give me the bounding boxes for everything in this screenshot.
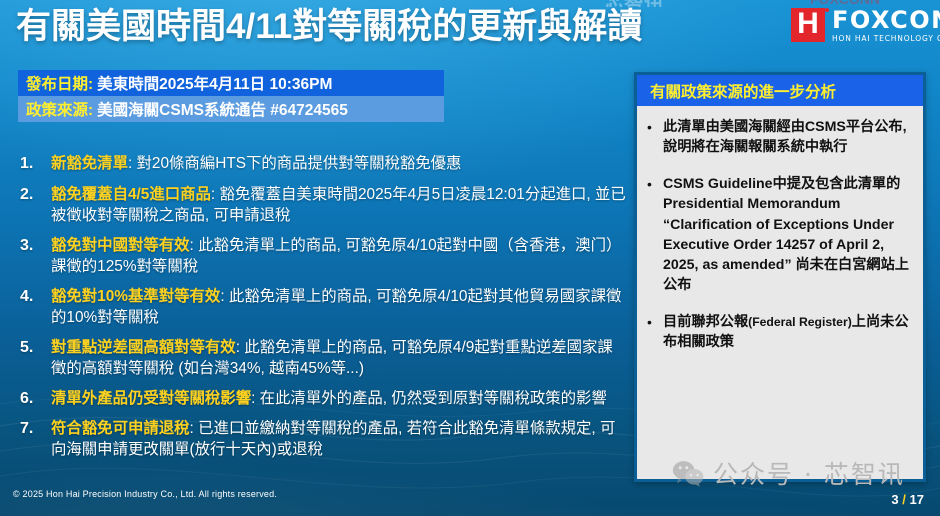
panel-bullet: • 此清單由美國海關經由CSMS平台公布, 說明將在海關報關系統中執行	[647, 117, 911, 157]
list-item-number: 1.	[20, 153, 51, 175]
panel-bullet-text: 此清單由美國海關經由CSMS平台公布, 說明將在海關報關系統中執行	[663, 117, 911, 157]
bullet-marker-icon: •	[647, 117, 663, 157]
foxconn-tagline: HON HAI TECHNOLOGY GROUP	[832, 35, 940, 43]
panel-bullet: • CSMS Guideline中提及包含此清單的 Presidential M…	[647, 174, 911, 295]
foxconn-h-mark-icon: H	[791, 8, 825, 42]
panel-bullet-text: CSMS Guideline中提及包含此清單的 Presidential Mem…	[663, 174, 911, 295]
list-item-number: 4.	[20, 286, 51, 329]
list-item: 2. 豁免覆蓋自4/5進口商品: 豁免覆蓋自美東時間2025年4月5日凌晨12:…	[20, 184, 628, 227]
policy-source-value: 美國海關CSMS系統通告 #64724565	[97, 98, 348, 120]
list-item-number: 6.	[20, 388, 51, 410]
list-item-number: 2.	[20, 184, 51, 227]
list-item: 1. 新豁免清單: 對20條商編HTS下的商品提供對等關稅豁免優惠	[20, 153, 628, 175]
foxconn-logo: H FOXCONN® HON HAI TECHNOLOGY GROUP	[791, 8, 940, 43]
list-item: 7. 符合豁免可申請退稅: 已進口並繳納對等關稅的產品, 若符合此豁免清單條款規…	[20, 418, 628, 461]
list-item-heading: 豁免對10%基準對等有效	[51, 288, 220, 305]
list-item-body: : 對20條商編HTS下的商品提供對等關稅豁免優惠	[128, 155, 461, 172]
publish-date-value: 美東時間2025年4月11日 10:36PM	[97, 72, 332, 94]
page-title: 有關美國時間4/11對等關稅的更新與解讀	[16, 5, 642, 49]
analysis-panel: 有關政策來源的進一步分析 • 此清單由美國海關經由CSMS平台公布, 說明將在海…	[634, 72, 926, 482]
list-item-text: 對重點逆差國高額對等有效: 此豁免清單上的商品, 可豁免原4/9起對重點逆差國家…	[51, 337, 628, 380]
page-separator: /	[902, 492, 906, 507]
panel-bullet-part1: 目前聯邦公報	[663, 314, 748, 330]
copyright-text: © 2025 Hon Hai Precision Industry Co., L…	[13, 489, 277, 499]
list-item-number: 3.	[20, 235, 51, 278]
publish-date-row: 發布日期: 美東時間2025年4月11日 10:36PM	[18, 70, 444, 96]
list-item-heading: 符合豁免可申請退稅	[51, 420, 190, 437]
list-item: 5. 對重點逆差國高額對等有效: 此豁免清單上的商品, 可豁免原4/9起對重點逆…	[20, 337, 628, 380]
list-item-body: : 在此清單外的產品, 仍然受到原對等關稅政策的影響	[251, 390, 607, 407]
panel-bullet: • 目前聯邦公報(Federal Register)上尚未公布相關政策	[647, 312, 911, 352]
list-item-text: 豁免覆蓋自4/5進口商品: 豁免覆蓋自美東時間2025年4月5日凌晨12:01分…	[51, 184, 628, 227]
list-item-text: 清單外產品仍受對等關稅影響: 在此清單外的產品, 仍然受到原對等關稅政策的影響	[51, 388, 628, 410]
publish-date-label: 發布日期:	[26, 72, 93, 94]
list-item-text: 符合豁免可申請退稅: 已進口並繳納對等關稅的產品, 若符合此豁免清單條款規定, …	[51, 418, 628, 461]
panel-bullet-text: 目前聯邦公報(Federal Register)上尚未公布相關政策	[663, 312, 911, 352]
list-item-heading: 豁免覆蓋自4/5進口商品	[51, 186, 211, 203]
foxconn-brand-text: FOXCONN®	[832, 8, 940, 32]
analysis-panel-body: • 此清單由美國海關經由CSMS平台公布, 說明將在海關報關系統中執行 • CS…	[637, 106, 923, 353]
list-item-heading: 豁免對中國對等有效	[51, 237, 190, 254]
list-item-heading: 新豁免清單	[51, 155, 128, 172]
list-item-text: 豁免對中國對等有效: 此豁免清單上的商品, 可豁免原4/10起對中國（含香港，澳…	[51, 235, 628, 278]
list-item-text: 新豁免清單: 對20條商編HTS下的商品提供對等關稅豁免優惠	[51, 153, 628, 175]
list-item-number: 7.	[20, 418, 51, 461]
list-item-number: 5.	[20, 337, 51, 380]
foxconn-logo-words: FOXCONN® HON HAI TECHNOLOGY GROUP	[832, 8, 940, 43]
policy-source-label: 政策來源:	[26, 98, 93, 120]
info-box: 發布日期: 美東時間2025年4月11日 10:36PM 政策來源: 美國海關C…	[18, 70, 444, 122]
list-item-text: 豁免對10%基準對等有效: 此豁免清單上的商品, 可豁免原4/10起對其他貿易國…	[51, 286, 628, 329]
bullet-marker-icon: •	[647, 174, 663, 295]
list-item: 4. 豁免對10%基準對等有效: 此豁免清單上的商品, 可豁免原4/10起對其他…	[20, 286, 628, 329]
list-item: 3. 豁免對中國對等有效: 此豁免清單上的商品, 可豁免原4/10起對中國（含香…	[20, 235, 628, 278]
numbered-list: 1. 新豁免清單: 對20條商編HTS下的商品提供對等關稅豁免優惠 2. 豁免覆…	[20, 153, 628, 469]
analysis-panel-title: 有關政策來源的進一步分析	[650, 80, 836, 102]
page-number: 3 / 17	[891, 492, 924, 507]
panel-bullet-part1: CSMS Guideline中提及包含此清單的	[663, 176, 900, 192]
analysis-panel-header: 有關政策來源的進一步分析	[637, 75, 923, 106]
foxconn-h-letter: H	[797, 9, 819, 39]
policy-source-row: 政策來源: 美國海關CSMS系統通告 #64724565	[18, 96, 444, 122]
page-current: 3	[891, 492, 898, 507]
bullet-marker-icon: •	[647, 312, 663, 352]
list-item: 6. 清單外產品仍受對等關稅影響: 在此清單外的產品, 仍然受到原對等關稅政策的…	[20, 388, 628, 410]
panel-bullet-part2: (Federal Register)	[748, 315, 852, 329]
page-total: 17	[910, 492, 924, 507]
list-item-heading: 清單外產品仍受對等關稅影響	[51, 390, 251, 407]
slide-canvas: 芯智讯 FOXCONN 有關美國時間4/11對等關稅的更新與解讀 H FOXCO…	[0, 0, 940, 516]
list-item-heading: 對重點逆差國高額對等有效	[51, 339, 236, 356]
